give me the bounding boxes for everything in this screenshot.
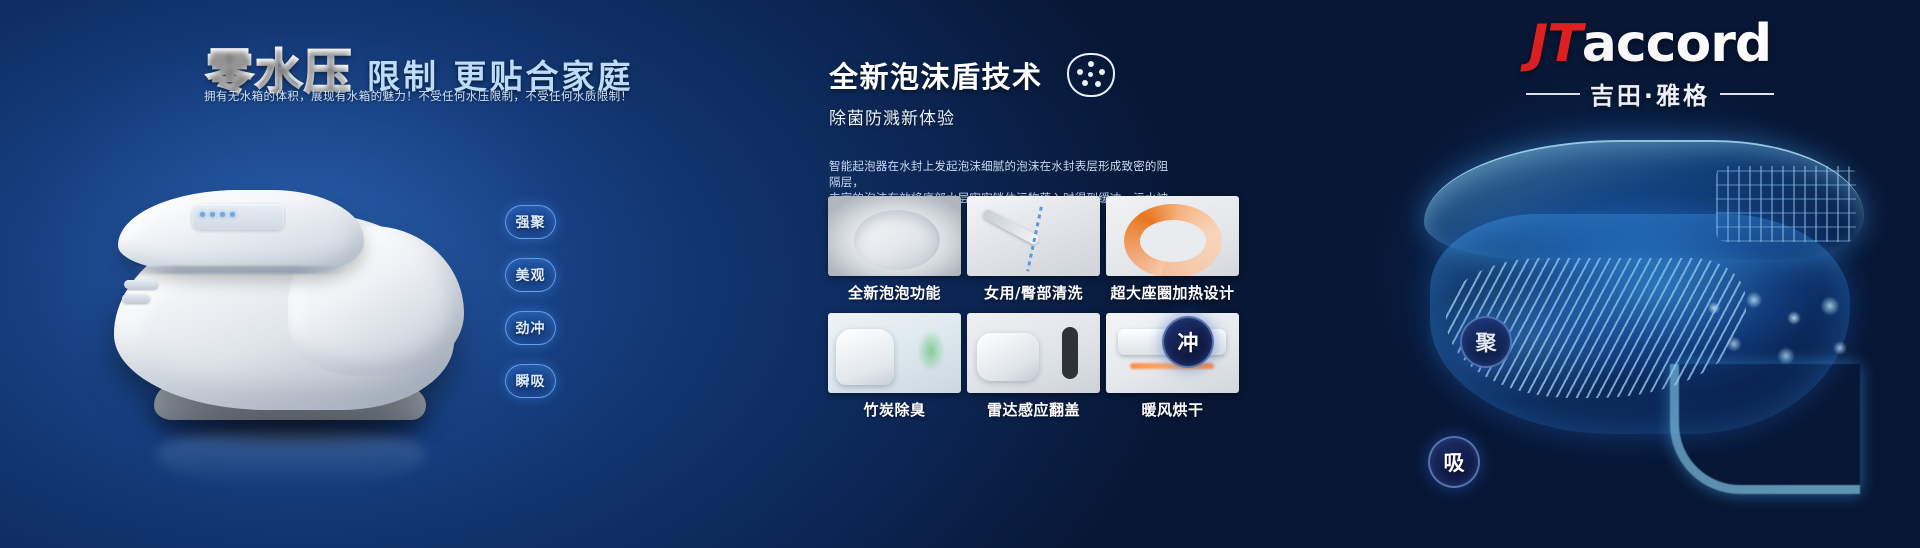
control-panel-indicator-dots <box>200 212 235 217</box>
heated-seat-ring-thumb <box>1106 196 1239 276</box>
right-panel: JTaccord 吉田·雅格 冲 聚 吸 <box>1380 0 1920 548</box>
feature-row-top: 全新泡泡功能 女用/臀部清洗 超大座圈加热设计 <box>828 196 1240 303</box>
feature-label-2: 超大座圈加热设计 <box>1106 282 1239 303</box>
left-panel: 零水压 限制 更贴合家庭 拥有无水箱的体积，展现有水箱的魅力！不受任何水压限制，… <box>0 0 640 548</box>
smart-toilet-product-image <box>96 128 486 438</box>
badge-xi[interactable]: 吸 <box>1428 436 1480 488</box>
feature-label-0: 全新泡泡功能 <box>828 282 961 303</box>
feature-label-4: 雷达感应翻盖 <box>967 399 1100 420</box>
pill-badge-0[interactable]: 强聚 <box>505 205 556 239</box>
brand-logo[interactable]: JTaccord 吉田·雅格 <box>1460 18 1840 111</box>
pill-badge-1[interactable]: 美观 <box>505 258 556 292</box>
feature-pill-list: 强聚 美观 劲冲 瞬吸 <box>505 205 556 398</box>
bubble-shield-icon <box>1067 53 1115 97</box>
product-banner: 零水压 限制 更贴合家庭 拥有无水箱的体积，展现有水箱的魅力！不受任何水压限制，… <box>0 0 1920 548</box>
middle-panel: 全新泡沫盾技术 除菌防溅新体验 智能起泡器在水封上发起泡沫细腻的泡沫在水封表层形… <box>660 0 1260 548</box>
toilet-lid <box>118 190 364 274</box>
middle-subtitle-text: 除菌防溅新体验 <box>829 104 955 129</box>
brand-logo-cn: 吉田·雅格 <box>1590 76 1710 111</box>
radar-sensor-lid-thumb <box>967 313 1100 393</box>
badge-ju[interactable]: 聚 <box>1460 316 1512 368</box>
feature-grid: 全新泡泡功能 女用/臀部清洗 超大座圈加热设计 竹炭除臭 雷 <box>828 196 1240 420</box>
feature-cell-3[interactable]: 竹炭除臭 <box>828 313 961 420</box>
feature-label-1: 女用/臀部清洗 <box>967 282 1100 303</box>
toilet-seam <box>130 266 346 274</box>
xray-drain-pipe <box>1670 364 1860 494</box>
bowl-foam-thumb <box>828 196 961 276</box>
toilet-control-panel <box>192 204 284 230</box>
brand-logo-cn-row: 吉田·雅格 <box>1460 76 1840 111</box>
xray-internal-components <box>1716 166 1856 242</box>
feature-label-5: 暖风烘干 <box>1106 399 1239 420</box>
logo-divider-right <box>1720 93 1774 95</box>
paragraph-line-0: 智能起泡器在水封上发起泡沫细腻的泡沫在水封表层形成致密的阻隔层， <box>829 158 1169 190</box>
toilet-xray-cutaway: 冲 聚 吸 <box>1390 118 1910 518</box>
wash-nozzle-thumb <box>967 196 1100 276</box>
logo-divider-left <box>1526 93 1580 95</box>
middle-title-row: 全新泡沫盾技术 <box>829 53 1115 97</box>
middle-title-text: 全新泡沫盾技术 <box>829 54 1043 96</box>
brand-logo-accord: accord <box>1582 14 1771 74</box>
feature-label-3: 竹炭除臭 <box>828 399 961 420</box>
badge-chong[interactable]: 冲 <box>1162 316 1214 368</box>
pill-badge-3[interactable]: 瞬吸 <box>505 364 556 398</box>
brand-logo-latin: JTaccord <box>1460 18 1840 70</box>
feature-cell-4[interactable]: 雷达感应翻盖 <box>967 313 1100 420</box>
feature-cell-1[interactable]: 女用/臀部清洗 <box>967 196 1100 303</box>
brand-logo-jt: JT <box>1529 14 1582 74</box>
feature-cell-2[interactable]: 超大座圈加热设计 <box>1106 196 1239 303</box>
bamboo-charcoal-thumb <box>828 313 961 393</box>
feature-cell-0[interactable]: 全新泡泡功能 <box>828 196 961 303</box>
headline-caption: 拥有无水箱的体积，展现有水箱的魅力！不受任何水压限制，不受任何水质限制！ <box>204 88 632 104</box>
toilet-reflection <box>156 428 426 488</box>
pill-badge-2[interactable]: 劲冲 <box>505 311 556 345</box>
toilet-side-button-2 <box>122 294 150 303</box>
toilet-side-button-1 <box>124 280 158 289</box>
